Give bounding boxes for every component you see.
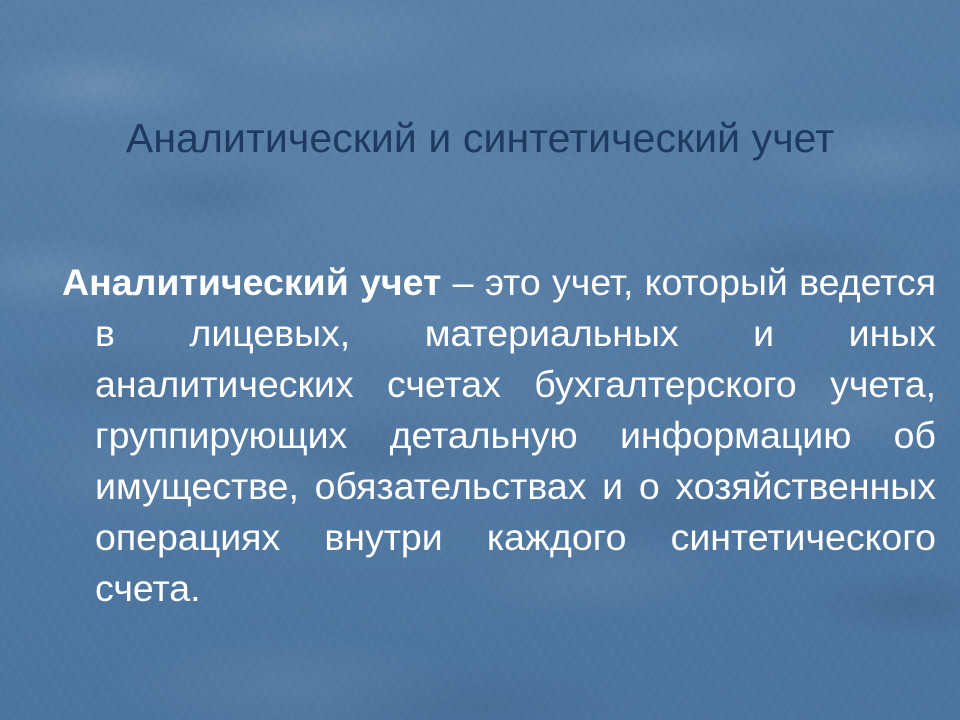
presentation-slide: Аналитический и синтетический учет Анали… [0,0,960,720]
slide-body-paragraph: Аналитический учет – это учет, который в… [62,257,936,614]
body-definition-text: – это учет, который ведется в лицевых, м… [95,261,936,609]
body-lead-term: Аналитический учет [62,261,441,303]
slide-title: Аналитический и синтетический учет [48,113,912,163]
